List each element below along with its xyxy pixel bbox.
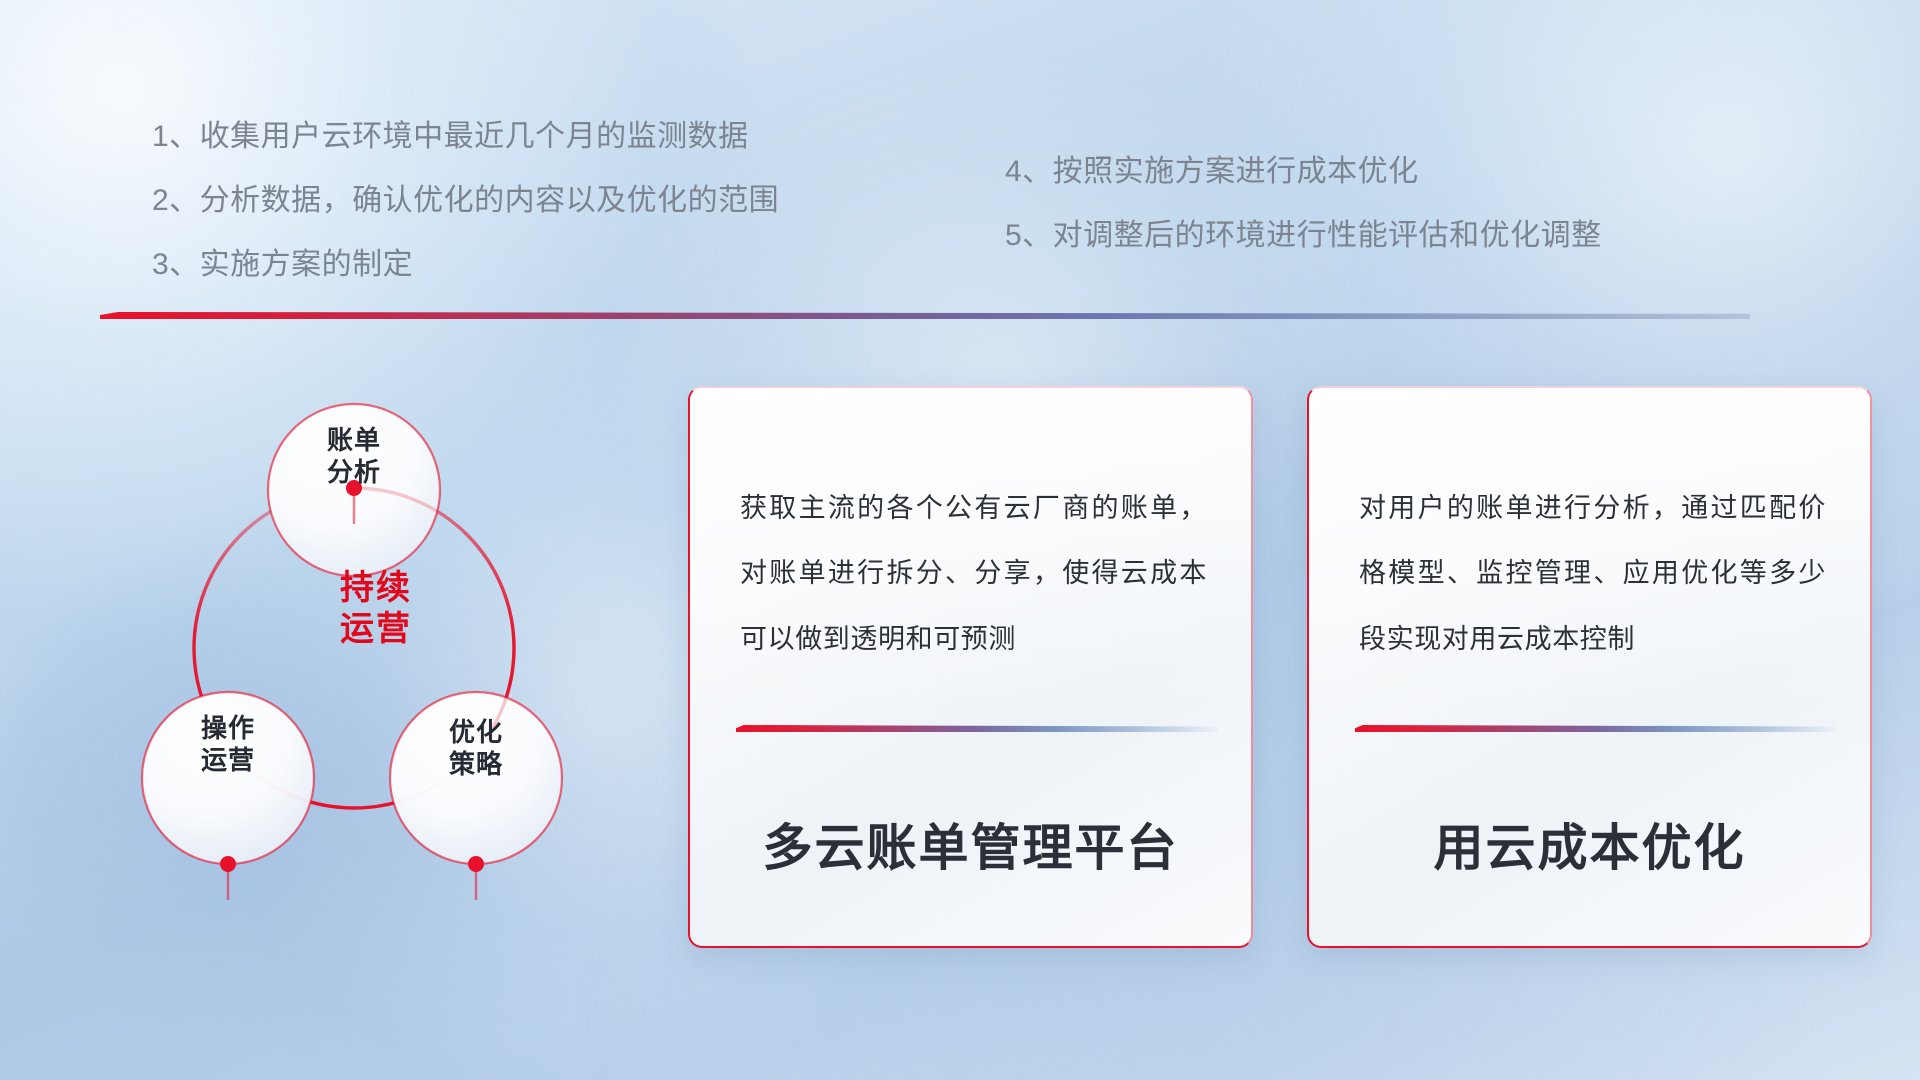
cycle-node-label-2: 操作 运营 (148, 712, 308, 776)
card-title: 用云成本优化 (1309, 808, 1870, 880)
card-body-text: 获取主流的各个公有云厂商的账单，对账单进行拆分、分享，使得云成本可以做到透明和可… (740, 476, 1207, 672)
section-divider (100, 312, 1750, 322)
card-divider (736, 725, 1218, 734)
cycle-dot-2 (220, 856, 236, 872)
cycle-diagram: 账单 分析 操作 运营 优化 策略 持续 运营 (96, 348, 656, 948)
cycle-node-label-3-line1: 优化 (396, 716, 556, 748)
cycle-node-label-1-line1: 账单 (274, 424, 434, 456)
feature-card[interactable]: 获取主流的各个公有云厂商的账单，对账单进行拆分、分享，使得云成本可以做到透明和可… (688, 386, 1253, 948)
card-divider-bar (736, 725, 1218, 732)
feature-card[interactable]: 对用户的账单进行分析，通过匹配价格模型、监控管理、应用优化等多少段实现对用云成本… (1307, 386, 1872, 948)
card-body-text: 对用户的账单进行分析，通过匹配价格模型、监控管理、应用优化等多少段实现对用云成本… (1359, 476, 1826, 672)
cycle-node-label-2-line1: 操作 (148, 712, 308, 744)
cycle-node-label-1: 账单 分析 (274, 424, 434, 488)
bullet-item: 4、按照实施方案进行成本优化 (1005, 157, 1602, 187)
bullet-list-left: 1、收集用户云环境中最近几个月的监测数据 2、分析数据，确认优化的内容以及优化的… (152, 122, 779, 280)
cycle-center-label: 持续 运营 (276, 568, 476, 651)
section-divider-bar (100, 312, 1750, 319)
card-title: 多云账单管理平台 (690, 808, 1251, 880)
cycle-node-label-2-line2: 运营 (148, 744, 308, 776)
cycle-dot-3 (468, 856, 484, 872)
card-divider (1355, 725, 1837, 734)
cycle-center-label-line1: 持续 (276, 568, 476, 609)
slide-canvas: 1、收集用户云环境中最近几个月的监测数据 2、分析数据，确认优化的内容以及优化的… (0, 0, 1920, 1080)
cycle-node-label-3: 优化 策略 (396, 716, 556, 780)
card-divider-bar (1355, 725, 1837, 732)
bullet-list-right: 4、按照实施方案进行成本优化 5、对调整后的环境进行性能评估和优化调整 (1005, 157, 1602, 251)
bullet-item: 2、分析数据，确认优化的内容以及优化的范围 (152, 186, 779, 216)
cycle-center-label-line2: 运营 (276, 609, 476, 650)
bullet-item: 5、对调整后的环境进行性能评估和优化调整 (1005, 221, 1602, 251)
cycle-node-label-3-line2: 策略 (396, 748, 556, 780)
bullet-item: 1、收集用户云环境中最近几个月的监测数据 (152, 122, 779, 152)
cycle-node-label-1-line2: 分析 (274, 456, 434, 488)
bullet-item: 3、实施方案的制定 (152, 250, 779, 280)
